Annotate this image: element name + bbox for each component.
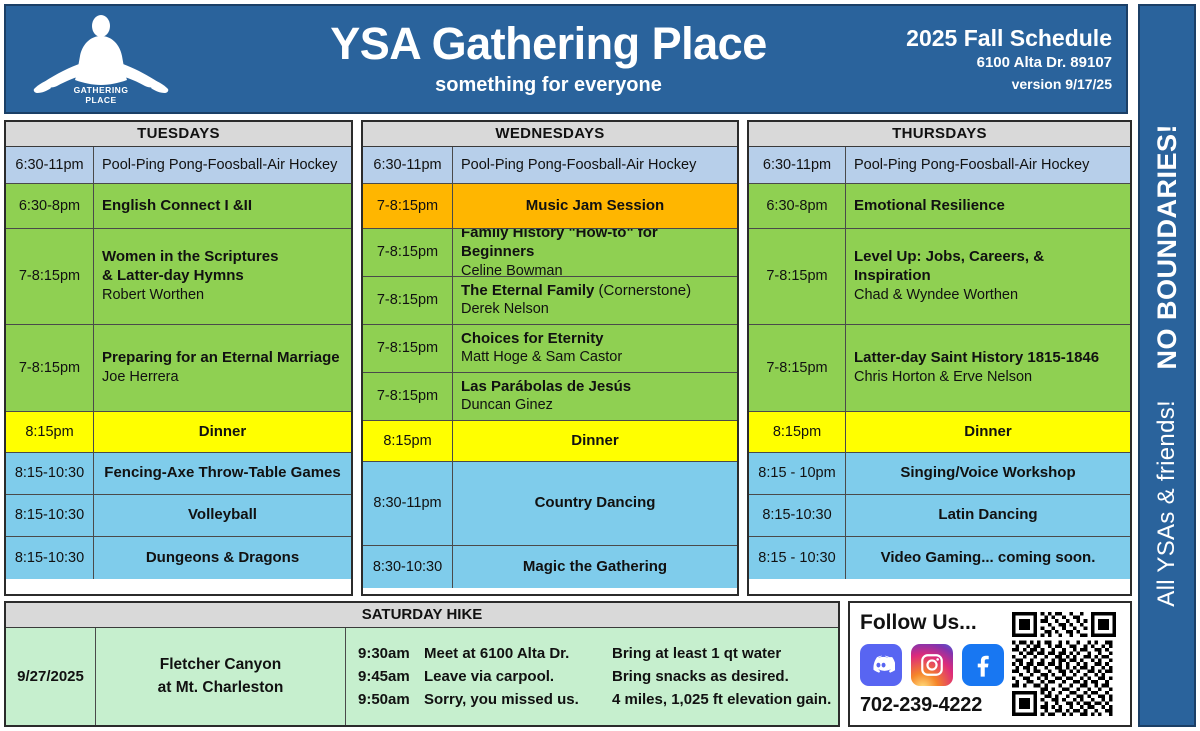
schedule-row[interactable]: 7-8:15pm Level Up: Jobs, Careers, & Insp… bbox=[749, 229, 1130, 325]
schedule-row-dinner[interactable]: 8:15pm Dinner bbox=[6, 412, 351, 453]
row-body: Latin Dancing bbox=[846, 495, 1130, 536]
header-meta: 2025 Fall Schedule 6100 Alta Dr. 89107 v… bbox=[891, 24, 1126, 95]
hike-note: Bring at least 1 qt water bbox=[612, 642, 838, 665]
row-title: Magic the Gathering bbox=[523, 558, 667, 577]
row-body: Preparing for an Eternal Marriage Joe He… bbox=[94, 325, 351, 411]
hike-note: Bring snacks as desired. bbox=[612, 665, 838, 688]
day-header-wednesday: WEDNESDAYS bbox=[363, 122, 737, 147]
address-label: 6100 Alta Dr. 89107 bbox=[891, 52, 1112, 74]
row-time: 8:15 - 10pm bbox=[749, 453, 846, 494]
row-time: 8:30-11pm bbox=[363, 462, 453, 545]
row-title-suffix: (Cornerstone) bbox=[594, 282, 691, 299]
schedule-row[interactable]: 7-8:15pm Women in the Scriptures & Latte… bbox=[6, 229, 351, 325]
row-body: Volleyball bbox=[94, 495, 351, 536]
row-title: Volleyball bbox=[188, 506, 257, 525]
row-title: Pool-Ping Pong-Foosball-Air Hockey bbox=[102, 156, 343, 175]
row-title: English Connect I &II bbox=[102, 197, 343, 216]
qr-code-wrap bbox=[1004, 612, 1124, 716]
schedule-row-music[interactable]: 7-8:15pm Music Jam Session bbox=[363, 184, 737, 229]
hike-location-line-2: at Mt. Charleston bbox=[158, 677, 284, 699]
schedule-row[interactable]: 8:15-10:30 Latin Dancing bbox=[749, 495, 1130, 537]
row-time: 7-8:15pm bbox=[363, 277, 453, 324]
saturday-hike-panel: SATURDAY HIKE 9/27/2025 Fletcher Canyon … bbox=[4, 601, 840, 727]
row-time: 8:15pm bbox=[6, 412, 94, 452]
hike-time: 9:30am bbox=[358, 642, 424, 665]
instagram-icon[interactable] bbox=[911, 644, 953, 686]
row-time: 8:15-10:30 bbox=[749, 495, 846, 536]
row-body: Pool-Ping Pong-Foosball-Air Hockey bbox=[94, 147, 351, 183]
schedule-row[interactable]: 6:30-8pm Emotional Resilience bbox=[749, 184, 1130, 229]
row-body: Pool-Ping Pong-Foosball-Air Hockey bbox=[846, 147, 1130, 183]
schedule-row-dinner[interactable]: 8:15pm Dinner bbox=[363, 421, 737, 462]
page-header: YSA GATHERING PLACE YSA Gathering Place … bbox=[4, 4, 1128, 114]
row-presenter: Chris Horton & Erve Nelson bbox=[854, 368, 1122, 387]
side-banner: NO BOUNDARIES! All YSAs & friends! bbox=[1138, 4, 1196, 727]
schedule-row-dinner[interactable]: 8:15pm Dinner bbox=[749, 412, 1130, 453]
row-body: Magic the Gathering bbox=[453, 546, 737, 588]
row-title: Level Up: Jobs, Careers, & Inspiration bbox=[854, 248, 1122, 286]
row-title: Emotional Resilience bbox=[854, 197, 1122, 216]
schedule-row[interactable]: 6:30-8pm English Connect I &II bbox=[6, 184, 351, 229]
row-title: Video Gaming... coming soon. bbox=[881, 549, 1096, 568]
row-title: Country Dancing bbox=[535, 494, 656, 513]
day-columns: TUESDAYS 6:30-11pm Pool-Ping Pong-Foosba… bbox=[4, 120, 1132, 596]
row-body: Music Jam Session bbox=[453, 184, 737, 228]
row-title: Dinner bbox=[964, 423, 1012, 442]
schedule-row[interactable]: 8:30-11pm Country Dancing bbox=[363, 462, 737, 546]
hike-location: Fletcher Canyon at Mt. Charleston bbox=[96, 628, 346, 725]
row-title: Women in the Scriptures bbox=[102, 248, 343, 267]
schedule-row[interactable]: 8:15-10:30 Fencing-Axe Throw-Table Games bbox=[6, 453, 351, 495]
hike-itinerary-row: 9:45am Leave via carpool. Bring snacks a… bbox=[358, 665, 838, 688]
row-time: 7-8:15pm bbox=[363, 373, 453, 420]
row-title: Las Parábolas de Jesús bbox=[461, 378, 729, 397]
version-label: version 9/17/25 bbox=[891, 74, 1112, 94]
schedule-row[interactable]: 6:30-11pm Pool-Ping Pong-Foosball-Air Ho… bbox=[749, 147, 1130, 184]
row-time: 7-8:15pm bbox=[749, 325, 846, 411]
row-body: Latter-day Saint History 1815-1846 Chris… bbox=[846, 325, 1130, 411]
discord-icon[interactable] bbox=[860, 644, 902, 686]
row-title: Family History "How-to" for Beginners bbox=[461, 229, 729, 262]
title-block: YSA Gathering Place something for everyo… bbox=[196, 21, 891, 97]
season-label: 2025 Fall Schedule bbox=[891, 24, 1112, 53]
row-time: 8:15 - 10:30 bbox=[749, 537, 846, 579]
hike-note: 4 miles, 1,025 ft elevation gain. bbox=[612, 688, 838, 711]
schedule-row[interactable]: 7-8:15pm Latter-day Saint History 1815-1… bbox=[749, 325, 1130, 412]
row-body: Pool-Ping Pong-Foosball-Air Hockey bbox=[453, 147, 737, 183]
schedule-row[interactable]: 8:15 - 10:30 Video Gaming... coming soon… bbox=[749, 537, 1130, 579]
row-body: Dungeons & Dragons bbox=[94, 537, 351, 579]
row-body: Dinner bbox=[94, 412, 351, 452]
hike-body: 9/27/2025 Fletcher Canyon at Mt. Charles… bbox=[6, 628, 838, 725]
wednesday-rows: 6:30-11pm Pool-Ping Pong-Foosball-Air Ho… bbox=[363, 147, 737, 594]
row-body: Women in the Scriptures & Latter-day Hym… bbox=[94, 229, 351, 324]
row-time: 7-8:15pm bbox=[363, 184, 453, 228]
row-body: Dinner bbox=[846, 412, 1130, 452]
row-time: 7-8:15pm bbox=[6, 325, 94, 411]
schedule-row[interactable]: 7-8:15pm Family History "How-to" for Beg… bbox=[363, 229, 737, 277]
logo-line-3: PLACE bbox=[85, 95, 116, 105]
row-body: Fencing-Axe Throw-Table Games bbox=[94, 453, 351, 494]
qr-code-icon[interactable] bbox=[1012, 612, 1116, 716]
schedule-row[interactable]: 8:30-10:30 Magic the Gathering bbox=[363, 546, 737, 588]
row-body: The Eternal Family (Cornerstone) Derek N… bbox=[453, 277, 737, 324]
row-time: 7-8:15pm bbox=[363, 325, 453, 372]
logo-line-2: GATHERING bbox=[74, 85, 129, 95]
day-column-thursday: THURSDAYS 6:30-11pm Pool-Ping Pong-Foosb… bbox=[747, 120, 1132, 596]
follow-left: Follow Us... bbox=[860, 607, 1004, 721]
row-title: The Eternal Family bbox=[461, 282, 594, 299]
row-title: Choices for Eternity bbox=[461, 330, 729, 349]
hike-time: 9:50am bbox=[358, 688, 424, 711]
row-time: 7-8:15pm bbox=[363, 229, 453, 276]
row-body: Country Dancing bbox=[453, 462, 737, 545]
row-presenter: Celine Bowman bbox=[461, 262, 729, 276]
row-presenter: Joe Herrera bbox=[102, 368, 343, 387]
follow-us-panel: Follow Us... bbox=[848, 601, 1132, 727]
row-time: 8:15-10:30 bbox=[6, 537, 94, 579]
schedule-row[interactable]: 7-8:15pm Choices for Eternity Matt Hoge … bbox=[363, 325, 737, 373]
schedule-row[interactable]: 8:15 - 10pm Singing/Voice Workshop bbox=[749, 453, 1130, 495]
row-title: Pool-Ping Pong-Foosball-Air Hockey bbox=[461, 156, 729, 175]
banner-all-ysas: All YSAs & friends! bbox=[1153, 400, 1181, 607]
bottom-section: SATURDAY HIKE 9/27/2025 Fletcher Canyon … bbox=[4, 601, 1132, 727]
logo-line-1: YSA bbox=[92, 75, 111, 85]
row-time: 6:30-8pm bbox=[749, 184, 846, 228]
row-title: Dinner bbox=[199, 423, 247, 442]
facebook-icon[interactable] bbox=[962, 644, 1004, 686]
row-presenter: Robert Worthen bbox=[102, 286, 343, 305]
row-presenter: Duncan Ginez bbox=[461, 396, 729, 415]
row-time: 8:15pm bbox=[749, 412, 846, 452]
hike-action: Meet at 6100 Alta Dr. bbox=[424, 642, 612, 665]
row-time: 7-8:15pm bbox=[749, 229, 846, 324]
row-body: Dinner bbox=[453, 421, 737, 461]
row-title-2: & Latter-day Hymns bbox=[102, 267, 343, 286]
page-tagline: something for everyone bbox=[206, 74, 891, 97]
schedule-row[interactable]: 7-8:15pm The Eternal Family (Cornerstone… bbox=[363, 277, 737, 325]
row-title-group: The Eternal Family (Cornerstone) bbox=[461, 282, 729, 301]
tuesday-rows: 6:30-11pm Pool-Ping Pong-Foosball-Air Ho… bbox=[6, 147, 351, 594]
row-title: Singing/Voice Workshop bbox=[900, 464, 1075, 483]
row-body: English Connect I &II bbox=[94, 184, 351, 228]
schedule-row[interactable]: 6:30-11pm Pool-Ping Pong-Foosball-Air Ho… bbox=[6, 147, 351, 184]
row-body: Singing/Voice Workshop bbox=[846, 453, 1130, 494]
hike-action: Leave via carpool. bbox=[424, 665, 612, 688]
row-time: 7-8:15pm bbox=[6, 229, 94, 324]
row-title: Music Jam Session bbox=[526, 197, 664, 216]
row-title: Pool-Ping Pong-Foosball-Air Hockey bbox=[854, 156, 1122, 175]
page-title: YSA Gathering Place bbox=[206, 21, 891, 67]
row-body: Emotional Resilience bbox=[846, 184, 1130, 228]
row-presenter: Chad & Wyndee Worthen bbox=[854, 286, 1122, 305]
day-column-tuesday: TUESDAYS 6:30-11pm Pool-Ping Pong-Foosba… bbox=[4, 120, 353, 596]
phone-number: 702-239-4222 bbox=[860, 694, 1004, 717]
schedule-row[interactable]: 7-8:15pm Preparing for an Eternal Marria… bbox=[6, 325, 351, 412]
day-header-tuesday: TUESDAYS bbox=[6, 122, 351, 147]
row-time: 8:15-10:30 bbox=[6, 495, 94, 536]
row-title: Fencing-Axe Throw-Table Games bbox=[104, 464, 340, 483]
row-presenter: Derek Nelson bbox=[461, 300, 729, 319]
row-body: Las Parábolas de Jesús Duncan Ginez bbox=[453, 373, 737, 420]
ysa-gathering-place-logo: YSA GATHERING PLACE bbox=[6, 6, 196, 112]
hike-date: 9/27/2025 bbox=[6, 628, 96, 725]
hike-itinerary: 9:30am Meet at 6100 Alta Dr. Bring at le… bbox=[346, 628, 838, 725]
banner-no-boundaries: NO BOUNDARIES! bbox=[1152, 124, 1183, 370]
row-time: 6:30-11pm bbox=[749, 147, 846, 183]
follow-us-title: Follow Us... bbox=[860, 611, 1004, 635]
row-body: Level Up: Jobs, Careers, & Inspiration C… bbox=[846, 229, 1130, 324]
hike-action: Sorry, you missed us. bbox=[424, 688, 612, 711]
schedule-row[interactable]: 8:15-10:30 Dungeons & Dragons bbox=[6, 537, 351, 579]
day-column-wednesday: WEDNESDAYS 6:30-11pm Pool-Ping Pong-Foos… bbox=[361, 120, 739, 596]
thursday-rows: 6:30-11pm Pool-Ping Pong-Foosball-Air Ho… bbox=[749, 147, 1130, 594]
row-time: 8:30-10:30 bbox=[363, 546, 453, 588]
row-time: 8:15-10:30 bbox=[6, 453, 94, 494]
row-body: Choices for Eternity Matt Hoge & Sam Cas… bbox=[453, 325, 737, 372]
row-time: 6:30-11pm bbox=[363, 147, 453, 183]
row-presenter: Matt Hoge & Sam Castor bbox=[461, 348, 729, 367]
row-body: Family History "How-to" for Beginners Ce… bbox=[453, 229, 737, 276]
row-title: Latter-day Saint History 1815-1846 bbox=[854, 349, 1122, 368]
schedule-row[interactable]: 6:30-11pm Pool-Ping Pong-Foosball-Air Ho… bbox=[363, 147, 737, 184]
row-title: Latin Dancing bbox=[938, 506, 1037, 525]
row-title: Preparing for an Eternal Marriage bbox=[102, 349, 343, 368]
hike-itinerary-row: 9:30am Meet at 6100 Alta Dr. Bring at le… bbox=[358, 642, 838, 665]
day-header-thursday: THURSDAYS bbox=[749, 122, 1130, 147]
row-time: 8:15pm bbox=[363, 421, 453, 461]
row-time: 6:30-11pm bbox=[6, 147, 94, 183]
schedule-row[interactable]: 8:15-10:30 Volleyball bbox=[6, 495, 351, 537]
row-title: Dinner bbox=[571, 432, 619, 451]
row-time: 6:30-8pm bbox=[6, 184, 94, 228]
hike-heading: SATURDAY HIKE bbox=[6, 603, 838, 628]
row-body: Video Gaming... coming soon. bbox=[846, 537, 1130, 579]
hike-location-line-1: Fletcher Canyon bbox=[160, 654, 281, 676]
hike-time: 9:45am bbox=[358, 665, 424, 688]
social-links bbox=[860, 644, 1004, 686]
schedule-row[interactable]: 7-8:15pm Las Parábolas de Jesús Duncan G… bbox=[363, 373, 737, 421]
row-title: Dungeons & Dragons bbox=[146, 549, 299, 568]
schedule-flyer: YSA GATHERING PLACE YSA Gathering Place … bbox=[0, 0, 1200, 731]
hike-itinerary-row: 9:50am Sorry, you missed us. 4 miles, 1,… bbox=[358, 688, 838, 711]
